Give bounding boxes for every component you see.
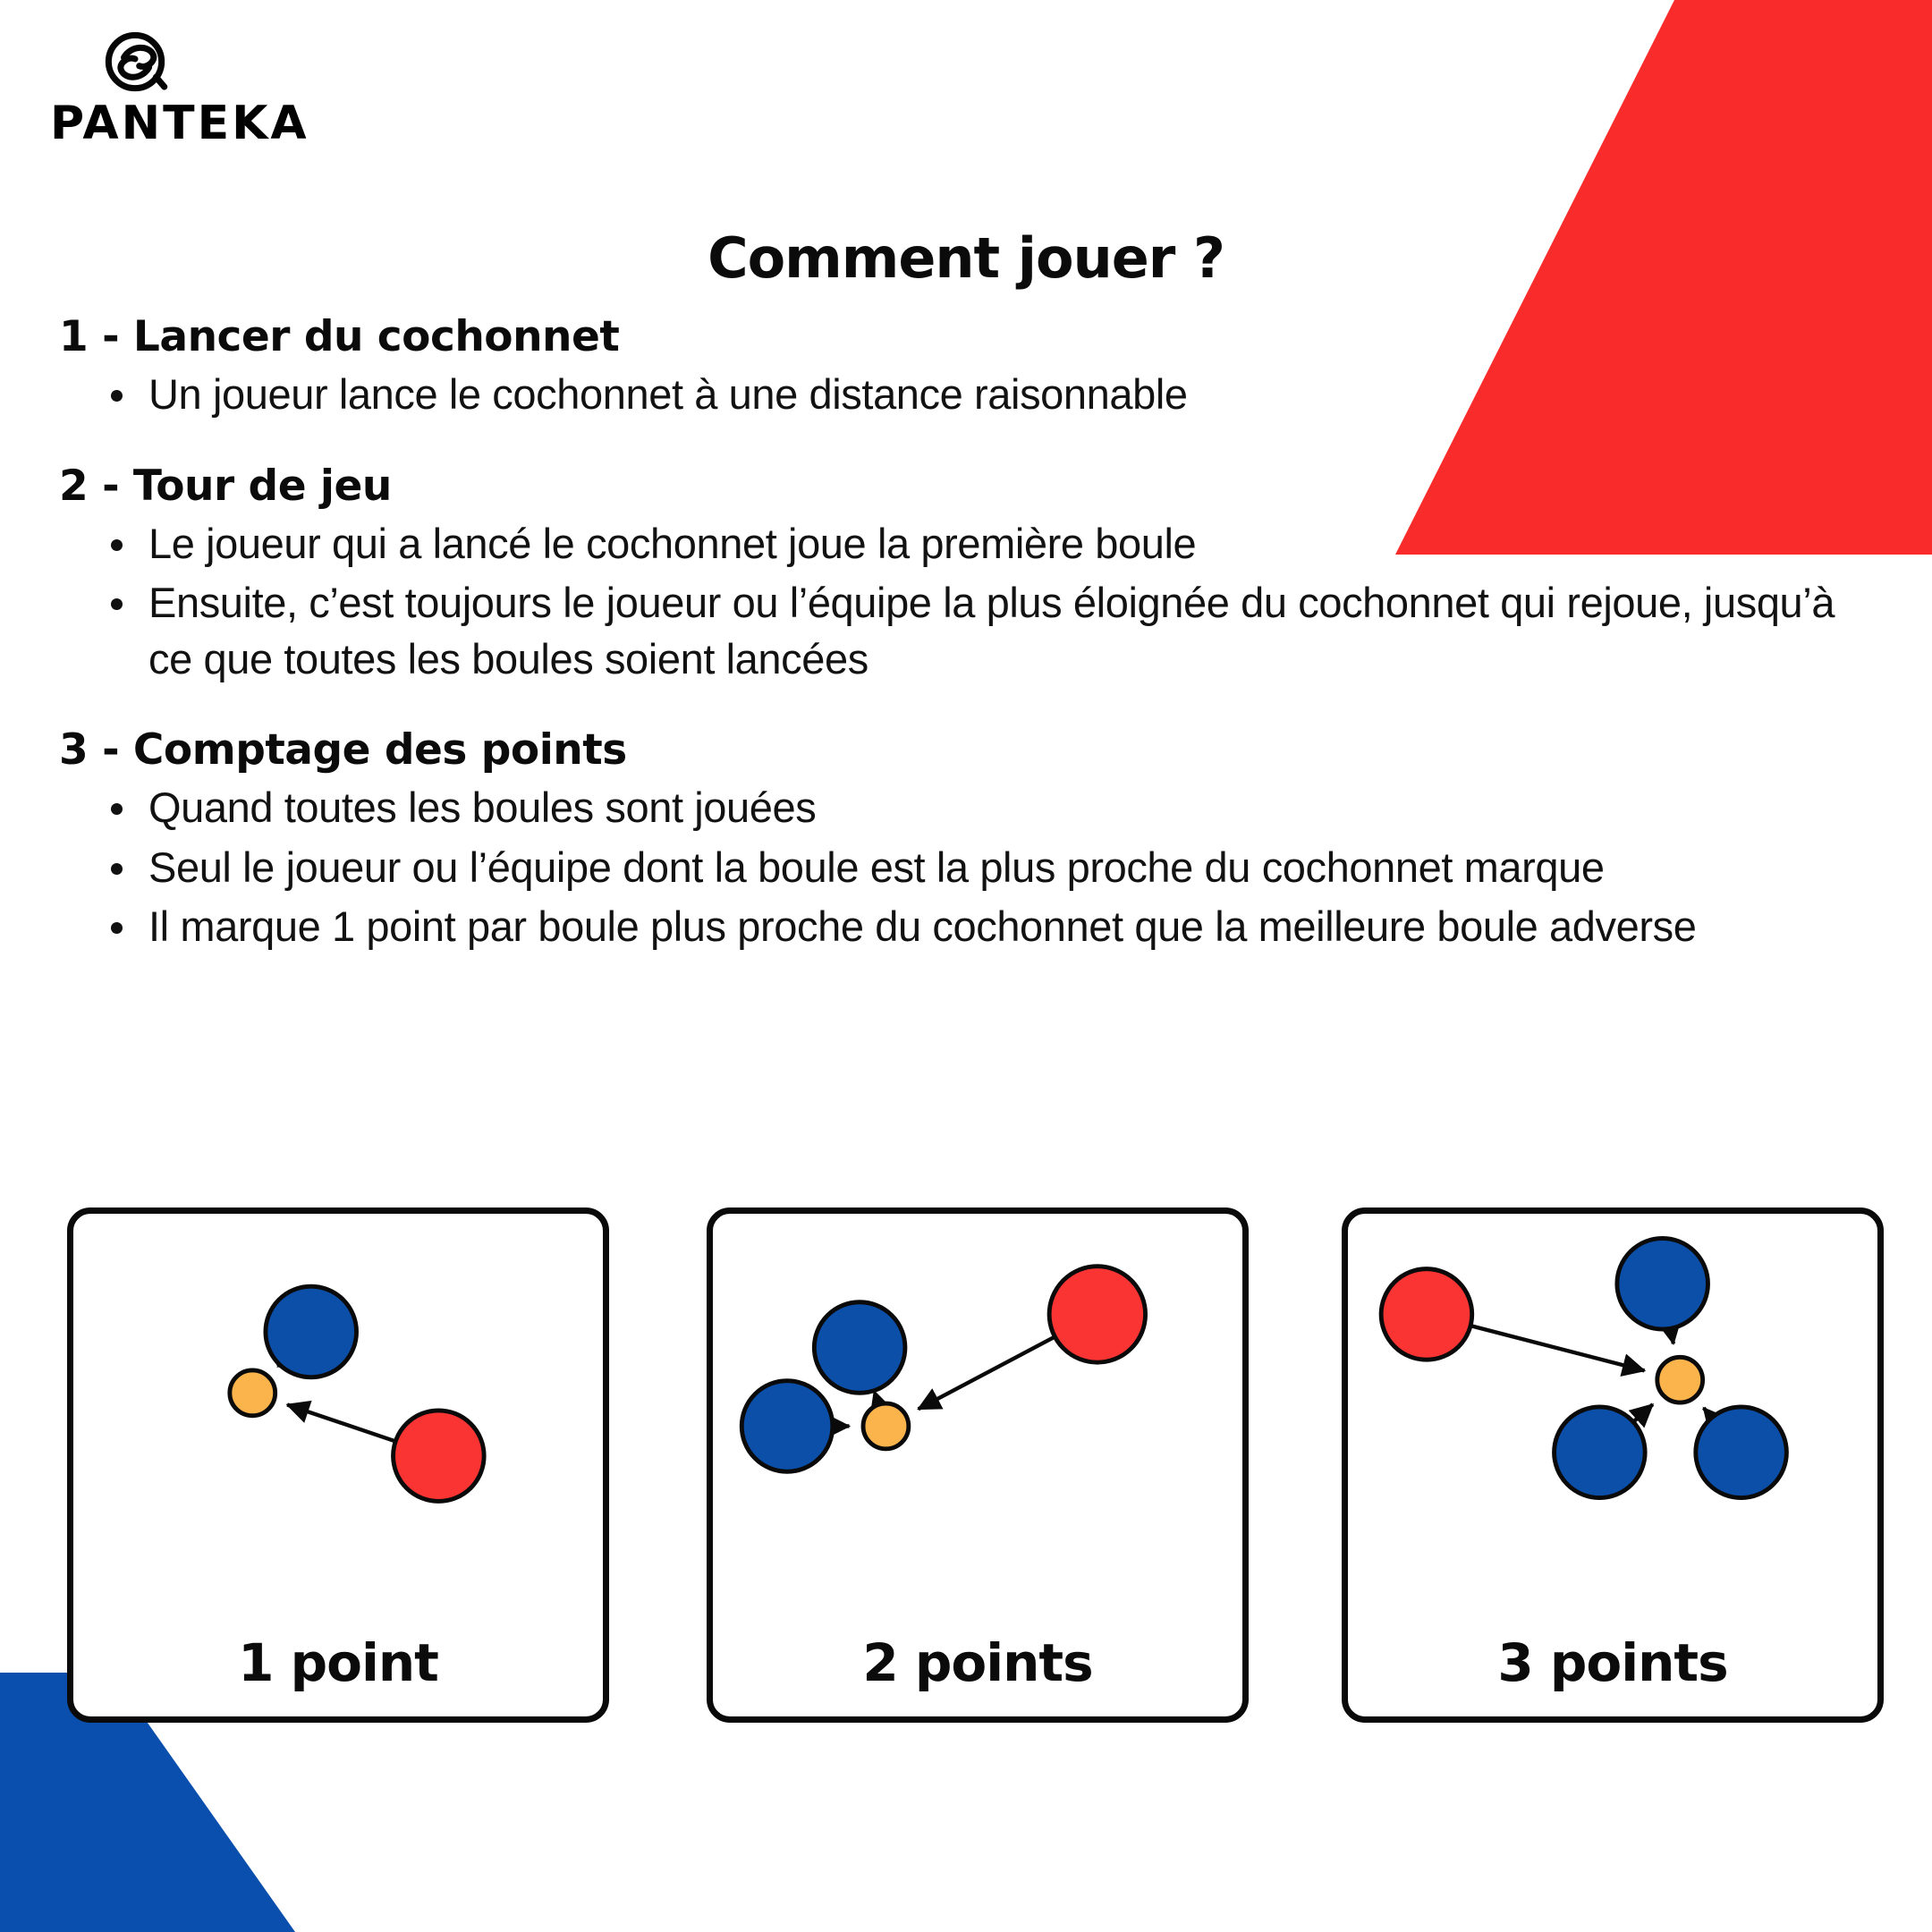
step-1: 1 - Lancer du cochonnet Un joueur lance … xyxy=(59,313,1857,423)
list-item: Quand toutes les boules sont jouées xyxy=(111,780,1857,836)
list-item: Ensuite, c’est toujours le joueur ou l’é… xyxy=(111,575,1857,687)
petanque-diagram xyxy=(1348,1214,1877,1598)
step-bullets: Un joueur lance le cochonnet à une dista… xyxy=(59,367,1857,423)
steps-list: 1 - Lancer du cochonnet Un joueur lance … xyxy=(59,313,1857,959)
list-item: Un joueur lance le cochonnet à une dista… xyxy=(111,367,1857,423)
score-card-label: 1 point xyxy=(73,1632,603,1693)
step-heading: 2 - Tour de jeu xyxy=(59,462,1857,511)
step-bullets: Le joueur qui a lancé le cochonnet joue … xyxy=(59,516,1857,688)
step-2: 2 - Tour de jeu Le joueur qui a lancé le… xyxy=(59,462,1857,688)
score-card-label: 3 points xyxy=(1348,1632,1877,1693)
brand-logo: PANTEKA xyxy=(47,27,315,147)
step-heading: 1 - Lancer du cochonnet xyxy=(59,313,1857,361)
score-examples: 1 point 2 points 3 points xyxy=(0,1207,1932,1726)
step-heading: 3 - Comptage des points xyxy=(59,726,1857,775)
poster-canvas: PANTEKA Comment jouer ? 1 - Lancer du co… xyxy=(0,0,1932,1932)
spiral-circle-icon xyxy=(100,27,170,97)
score-card-2-points: 2 points xyxy=(707,1207,1249,1723)
list-item: Il marque 1 point par boule plus proche … xyxy=(111,899,1857,955)
score-card-3-points: 3 points xyxy=(1342,1207,1884,1723)
page-title: Comment jouer ? xyxy=(0,225,1932,291)
list-item: Le joueur qui a lancé le cochonnet joue … xyxy=(111,516,1857,572)
petanque-diagram xyxy=(73,1214,603,1598)
score-card-label: 2 points xyxy=(713,1632,1242,1693)
brand-name: PANTEKA xyxy=(50,100,315,147)
score-card-1-point: 1 point xyxy=(67,1207,609,1723)
step-3: 3 - Comptage des points Quand toutes les… xyxy=(59,726,1857,955)
list-item: Seul le joueur ou l’équipe dont la boule… xyxy=(111,840,1857,896)
petanque-diagram xyxy=(713,1214,1242,1598)
step-bullets: Quand toutes les boules sont jouées Seul… xyxy=(59,780,1857,955)
